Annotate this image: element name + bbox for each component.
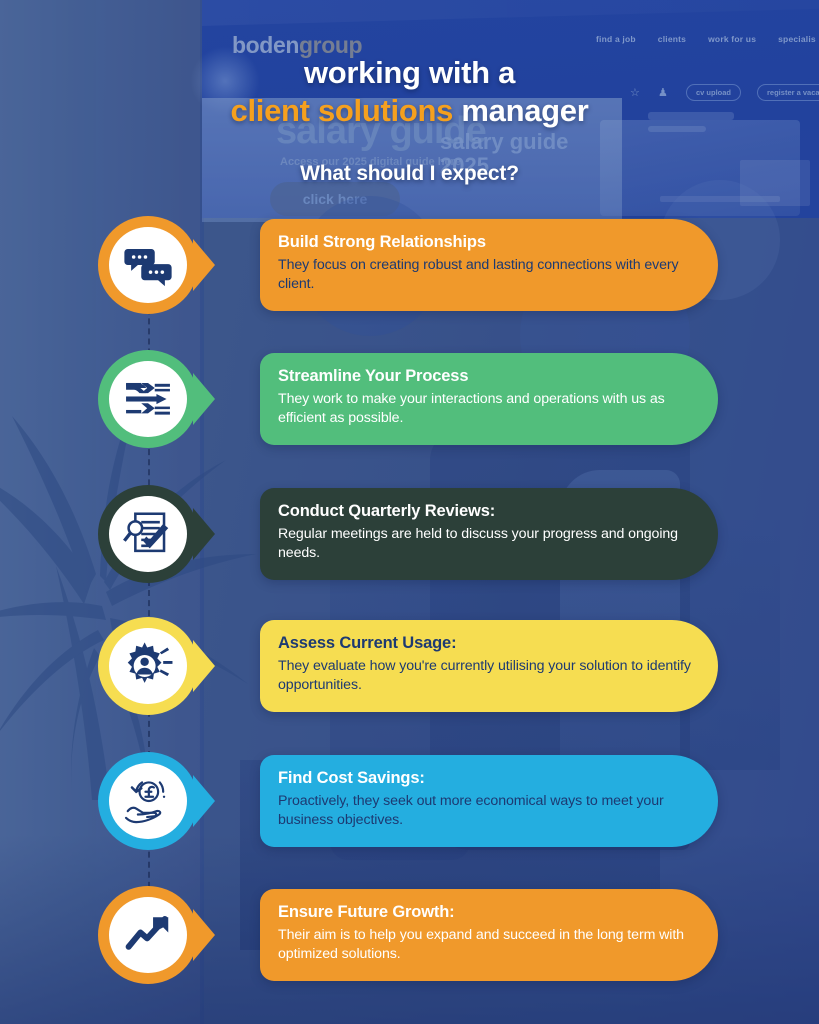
step-badge: [98, 617, 198, 715]
step-card: Streamline Your Process They work to mak…: [260, 353, 718, 445]
step-badge: [98, 752, 198, 850]
step-row: Assess Current Usage: They evaluate how …: [0, 617, 819, 715]
page-title: working with a client solutions manager: [0, 54, 819, 130]
step-card: Assess Current Usage: They evaluate how …: [260, 620, 718, 712]
badge-tip: [193, 909, 215, 961]
step-card: Build Strong Relationships They focus on…: [260, 219, 718, 311]
step-body: Proactively, they seek out more economic…: [278, 792, 696, 830]
streamline-arrows-icon: [121, 372, 175, 426]
step-body: They evaluate how you're currently utili…: [278, 657, 696, 695]
step-body: Their aim is to help you expand and succ…: [278, 926, 696, 964]
badge-tip: [193, 373, 215, 425]
badge-tip: [193, 508, 215, 560]
growth-arrow-icon: [121, 908, 175, 962]
step-badge: [98, 216, 198, 314]
step-badge: [98, 886, 198, 984]
gear-user-icon: [121, 639, 175, 693]
document-review-icon: [121, 507, 175, 561]
badge-tip: [193, 239, 215, 291]
step-card: Ensure Future Growth: Their aim is to he…: [260, 889, 718, 981]
badge-tip: [193, 640, 215, 692]
step-row: Conduct Quarterly Reviews: Regular meeti…: [0, 485, 819, 583]
page-title-line-1: working with a: [0, 54, 819, 92]
badge-tip: [193, 775, 215, 827]
step-card: Conduct Quarterly Reviews: Regular meeti…: [260, 488, 718, 580]
badge-inner-circle: [109, 361, 187, 437]
step-body: They work to make your interactions and …: [278, 390, 696, 428]
page-title-line-2-rest: manager: [453, 93, 588, 128]
badge-inner-circle: [109, 227, 187, 303]
step-title: Conduct Quarterly Reviews:: [278, 502, 696, 522]
step-title: Streamline Your Process: [278, 367, 696, 387]
badge-inner-circle: [109, 763, 187, 839]
step-card: Find Cost Savings: Proactively, they see…: [260, 755, 718, 847]
infographic-content: working with a client solutions manager …: [0, 0, 819, 1024]
step-title: Assess Current Usage:: [278, 634, 696, 654]
chat-bubbles-icon: [121, 238, 175, 292]
step-row: Find Cost Savings: Proactively, they see…: [0, 752, 819, 850]
step-row: Build Strong Relationships They focus on…: [0, 216, 819, 314]
badge-inner-circle: [109, 628, 187, 704]
hand-pound-savings-icon: [121, 774, 175, 828]
page-title-accent: client solutions: [231, 93, 454, 128]
step-title: Ensure Future Growth:: [278, 903, 696, 923]
badge-inner-circle: [109, 897, 187, 973]
badge-inner-circle: [109, 496, 187, 572]
step-body: They focus on creating robust and lastin…: [278, 256, 696, 294]
step-row: Streamline Your Process They work to mak…: [0, 350, 819, 448]
step-title: Build Strong Relationships: [278, 233, 696, 253]
step-badge: [98, 485, 198, 583]
page-title-line-2: client solutions manager: [0, 92, 819, 130]
step-badge: [98, 350, 198, 448]
step-title: Find Cost Savings:: [278, 769, 696, 789]
page-subtitle: What should I expect?: [0, 162, 819, 186]
step-row: Ensure Future Growth: Their aim is to he…: [0, 886, 819, 984]
step-body: Regular meetings are held to discuss you…: [278, 525, 696, 563]
